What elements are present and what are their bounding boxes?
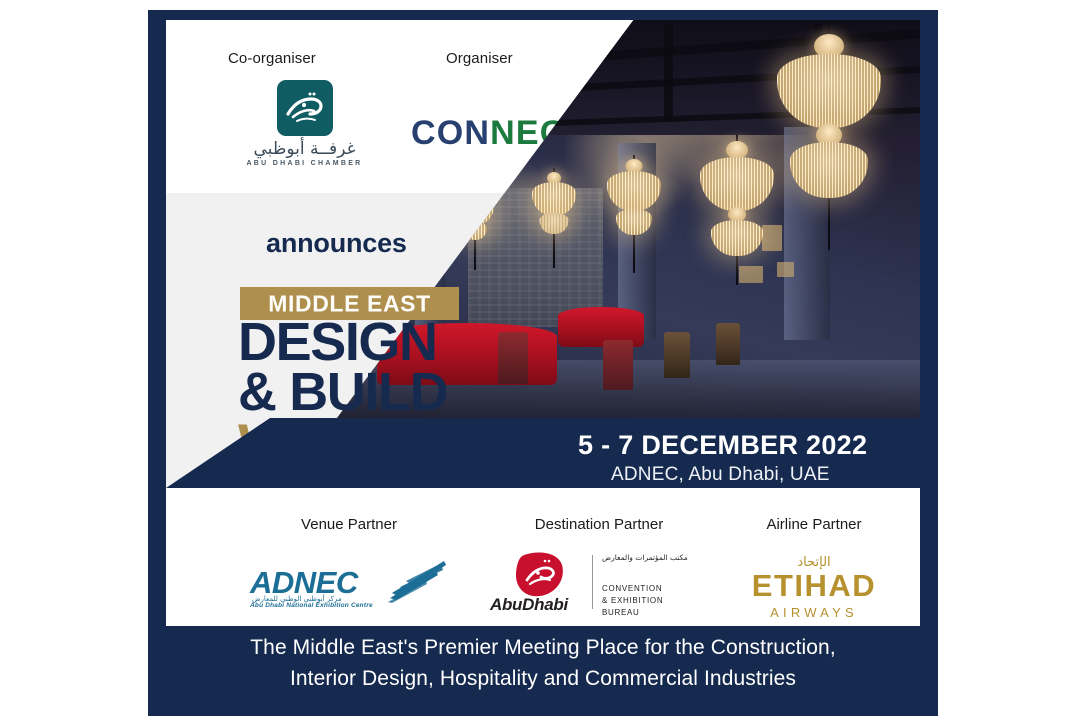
event-dates: 5 - 7 DECEMBER 2022 xyxy=(578,430,867,461)
abu-dhabi-chamber-english: ABU DHABI CHAMBER xyxy=(217,160,392,167)
abu-dhabi-chamber-logo: غرفــة أبوظبي ABU DHABI CHAMBER xyxy=(217,80,392,167)
event-announcement-poster: Co-organiser Organiser غرفــة أبوظبي ABU… xyxy=(148,10,938,716)
chandelier-icon xyxy=(769,20,889,250)
abu-dhabi-chamber-mark-icon xyxy=(277,80,333,136)
etihad-wordmark: ETIHAD xyxy=(714,568,914,604)
chandelier-icon xyxy=(528,168,580,268)
etihad-airways-logo: الإتحاد ETIHAD AIRWAYS xyxy=(714,555,914,613)
etihad-subtitle: AIRWAYS xyxy=(714,605,914,620)
photo-chair xyxy=(664,332,690,378)
adceb-english-line2: & EXHIBITION xyxy=(602,595,702,607)
venue-partner-label: Venue Partner xyxy=(214,516,484,533)
chandelier-icon xyxy=(694,135,780,285)
connect-logo-part1: CON xyxy=(411,114,490,152)
partner-column-destination: Destination Partner AbuDhabi xyxy=(484,516,714,615)
co-organiser-label: Co-organiser xyxy=(228,50,316,67)
adceb-arabic: مكتب المؤتمرات والمعارض xyxy=(602,553,692,564)
partner-column-venue: Venue Partner ADNEC مركز أبوظبي الوطني ل… xyxy=(214,516,484,613)
abu-dhabi-chamber-arabic: غرفــة أبوظبي xyxy=(217,141,392,159)
abu-dhabi-wordmark: AbuDhabi xyxy=(490,595,568,615)
photo-chair xyxy=(498,332,528,384)
title-line-design: DESIGN xyxy=(238,318,437,368)
adceb-english-line1: CONVENTION xyxy=(602,583,702,595)
tagline-line2: Interior Design, Hospitality and Commerc… xyxy=(166,663,920,694)
chandelier-icon xyxy=(603,155,665,273)
photo-beam xyxy=(664,24,673,122)
destination-partner-label: Destination Partner xyxy=(484,516,714,533)
chandelier-icon xyxy=(453,184,497,270)
organiser-label: Organiser xyxy=(446,50,513,67)
event-venue: ADNEC, Abu Dhabi, UAE xyxy=(611,464,830,486)
photo-chair xyxy=(603,340,633,390)
adnec-logo: ADNEC مركز أبوظبي الوطني للمعارض Abu Dha… xyxy=(214,557,484,613)
adceb-divider xyxy=(592,555,593,609)
adnec-english: Abu Dhabi National Exhibition Centre xyxy=(250,602,373,609)
poster-tagline: The Middle East's Premier Meeting Place … xyxy=(166,632,920,694)
adnec-falcon-icon xyxy=(386,559,450,608)
announces-text: announces xyxy=(266,228,407,259)
title-line-build: & BUILD xyxy=(238,368,447,418)
tagline-line1: The Middle East's Premier Meeting Place … xyxy=(166,632,920,663)
adceb-english-line3: BUREAU xyxy=(602,607,702,619)
poster-inner-panel: Co-organiser Organiser غرفــة أبوظبي ABU… xyxy=(166,20,920,626)
partners-band: Venue Partner ADNEC مركز أبوظبي الوطني ل… xyxy=(166,488,920,626)
partner-column-airline: Airline Partner الإتحاد ETIHAD AIRWAYS xyxy=(714,516,914,613)
photo-chair xyxy=(716,323,740,365)
adceb-english: CONVENTION & EXHIBITION BUREAU xyxy=(602,583,702,619)
abu-dhabi-convention-exhibition-bureau-logo: AbuDhabi مكتب المؤتمرات والمعارض CONVENT… xyxy=(484,549,714,615)
airline-partner-label: Airline Partner xyxy=(714,516,914,533)
